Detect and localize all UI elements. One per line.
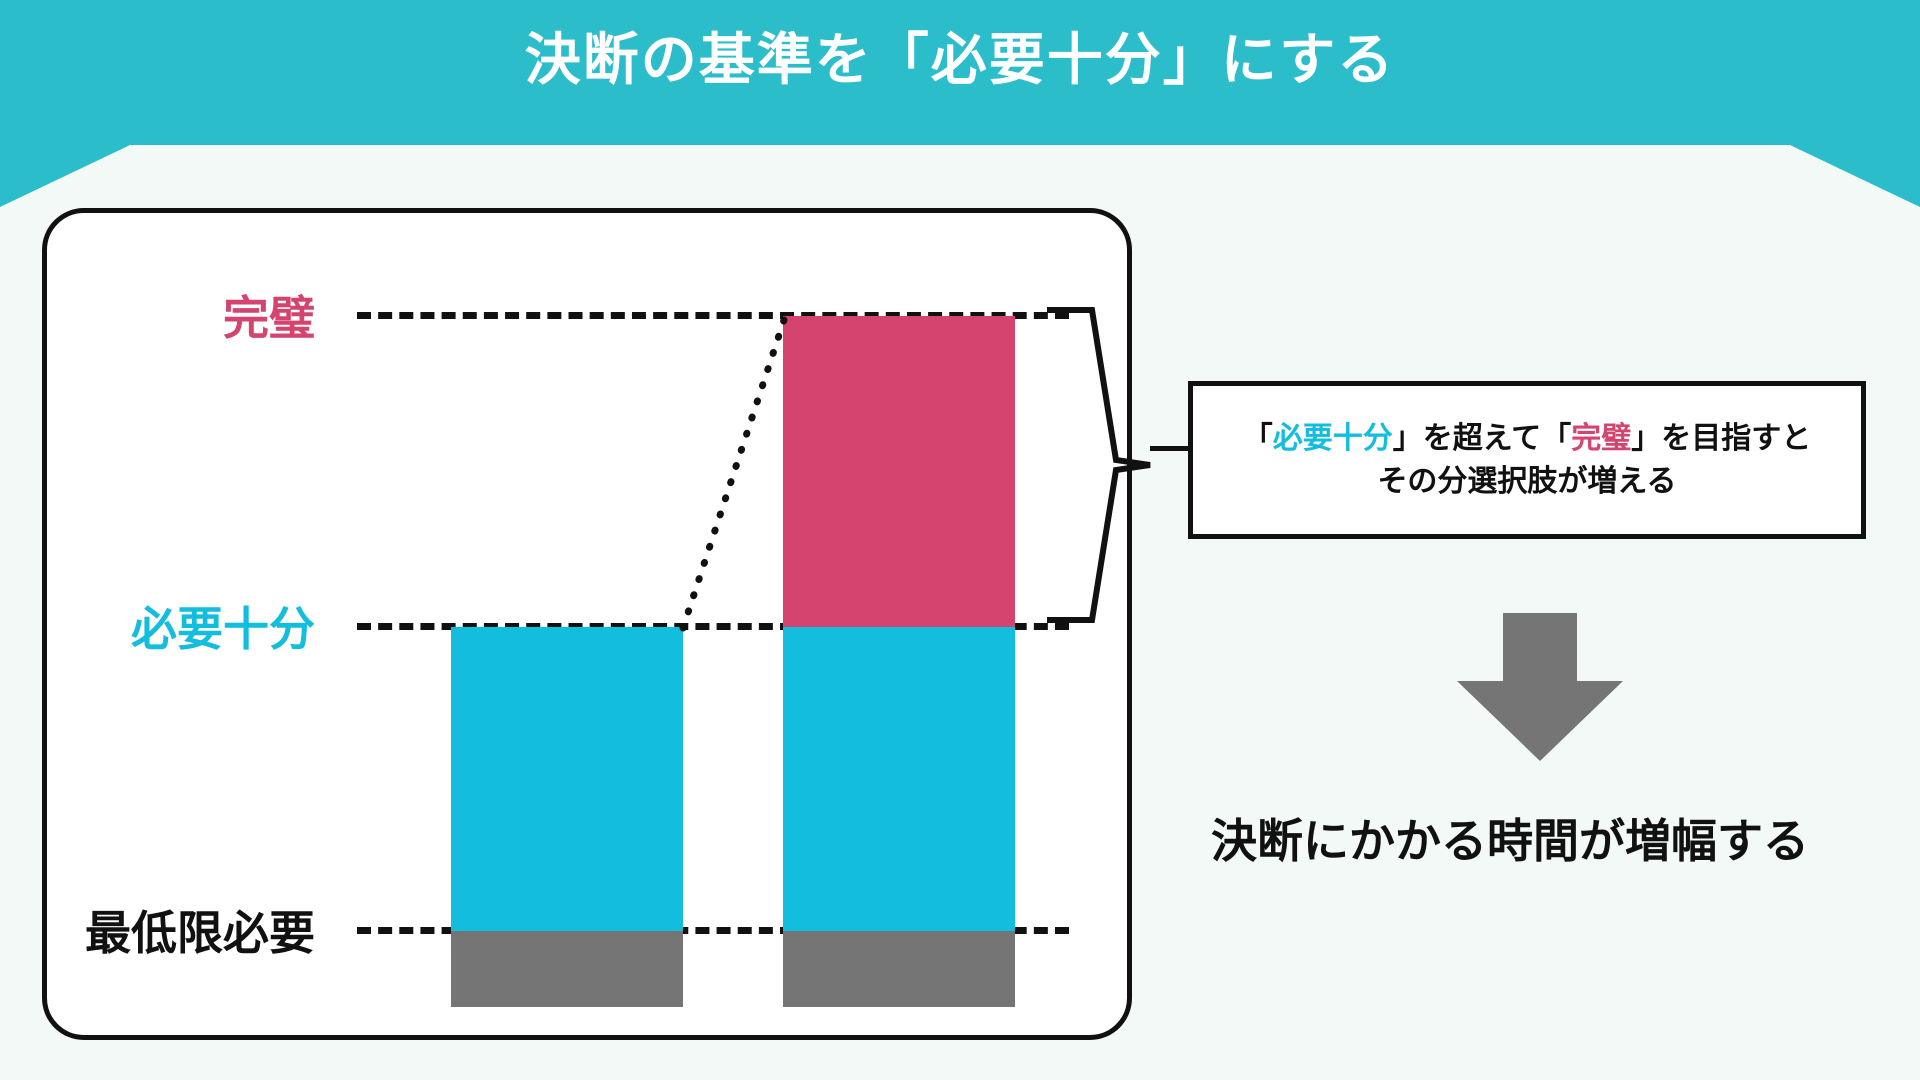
axis-label-enough: 必要十分	[47, 593, 315, 659]
callout-text-open: 「	[1243, 422, 1273, 455]
callout-line-2: その分選択肢が増える	[1377, 460, 1676, 504]
axis-label-perfect: 完璧	[47, 282, 315, 348]
dotted-connector-line	[657, 303, 807, 643]
callout-token-enough: 必要十分	[1273, 422, 1393, 455]
bar-a-segment-enough	[451, 627, 683, 931]
arrow-down-icon	[1455, 613, 1625, 763]
callout-box: 「必要十分」を超えて「完璧」を目指すと その分選択肢が増える	[1188, 381, 1866, 539]
callout-text-close: 」を目指すと	[1631, 422, 1811, 455]
callout-token-perfect: 完璧	[1571, 422, 1631, 455]
range-brace	[1040, 300, 1190, 630]
page-title: 決断の基準を「必要十分」にする	[0, 26, 1920, 93]
slide-canvas: 決断の基準を「必要十分」にする 完璧 必要十分 最低限必要 「必要十分」を超えて…	[0, 0, 1920, 1080]
axis-label-minimum: 最低限必要	[37, 897, 315, 963]
callout-text-mid: 」を超えて「	[1393, 422, 1572, 455]
bar-b-segment-perfect	[783, 316, 1015, 627]
callout-line-1: 「必要十分」を超えて「完璧」を目指すと	[1243, 417, 1812, 461]
bar-a-segment-minimum	[451, 931, 683, 1007]
conclusion-text: 決断にかかる時間が増幅する	[1150, 805, 1870, 871]
bar-b-segment-minimum	[783, 931, 1015, 1007]
chart-card: 完璧 必要十分 最低限必要	[42, 208, 1132, 1040]
bar-b-segment-enough	[783, 627, 1015, 931]
